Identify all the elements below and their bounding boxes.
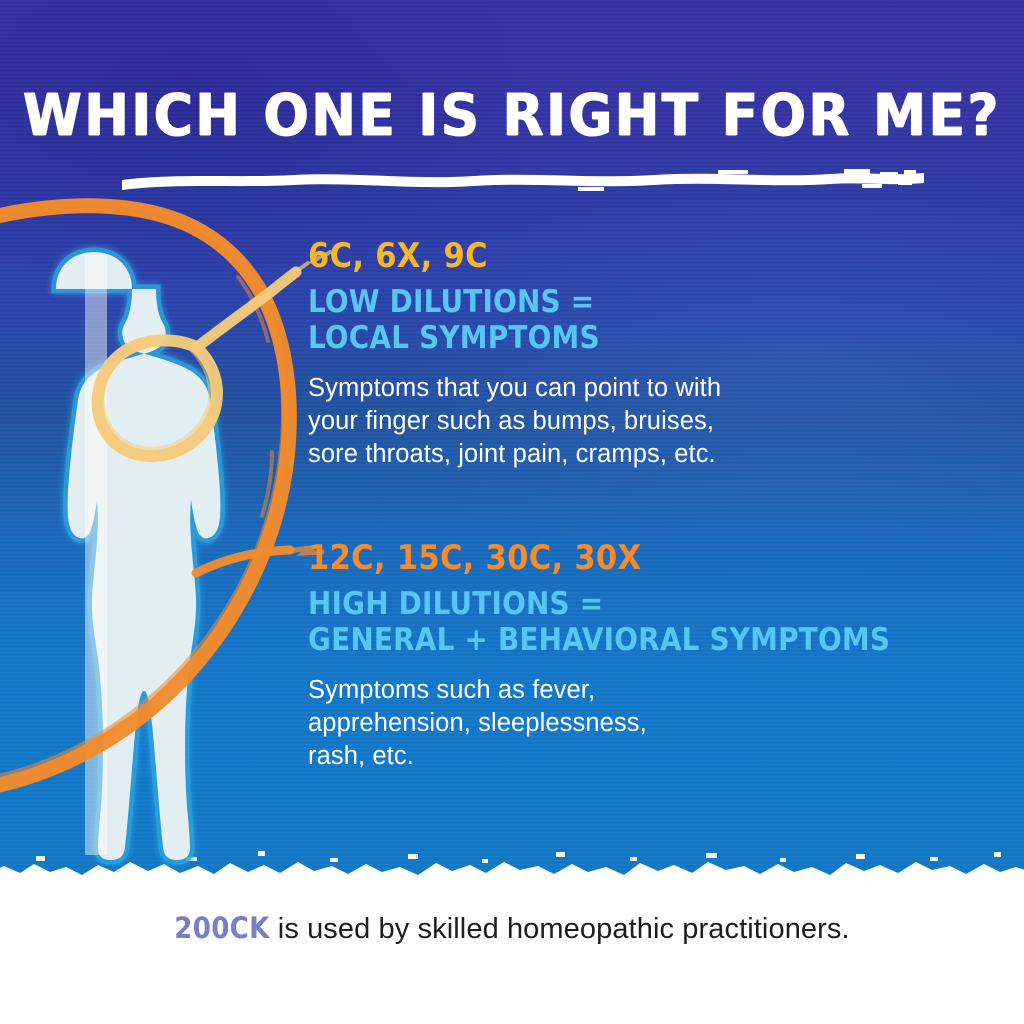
potency-block-high: 12C, 15C, 30C, 30X HIGH DILUTIONS = GENE… — [308, 538, 968, 773]
page-title: WHICH ONE IS RIGHT FOR ME? — [0, 82, 1024, 148]
footer-note: 200CK is used by skilled homeopathic pra… — [0, 906, 1024, 951]
subhead-low-line1: LOW DILUTIONS = — [308, 284, 594, 320]
subhead-low: LOW DILUTIONS = LOCAL SYMPTOMS — [308, 284, 968, 356]
footer-highlight-200ck: 200CK — [174, 911, 269, 945]
description-low-line1: Symptoms that you can point to with — [308, 372, 968, 405]
subhead-high: HIGH DILUTIONS = GENERAL + BEHAVIORAL SY… — [308, 586, 968, 658]
infographic-poster: WHICH ONE IS RIGHT FOR ME? 6C, 6X, 9C LO… — [0, 0, 1024, 1024]
potency-block-low: 6C, 6X, 9C LOW DILUTIONS = LOCAL SYMPTOM… — [308, 236, 968, 471]
description-high-line3: rash, etc. — [308, 740, 968, 773]
description-low-line2: your finger such as bumps, bruises, — [308, 405, 968, 438]
subhead-low-line2: LOCAL SYMPTOMS — [308, 320, 968, 356]
footer-rest-text: is used by skilled homeopathic practitio… — [270, 913, 850, 945]
subhead-high-line2: GENERAL + BEHAVIORAL SYMPTOMS — [308, 622, 968, 658]
subhead-high-line1: HIGH DILUTIONS = — [308, 586, 603, 622]
description-high-line2: apprehension, sleeplessness, — [308, 707, 968, 740]
description-low-line3: sore throats, joint pain, cramps, etc. — [308, 438, 968, 471]
description-high-line1: Symptoms such as fever, — [308, 674, 968, 707]
title-underline-brushstroke — [118, 166, 930, 192]
description-low: Symptoms that you can point to with your… — [308, 372, 968, 471]
potency-values-high: 12C, 15C, 30C, 30X — [308, 538, 968, 578]
description-high: Symptoms such as fever, apprehension, sl… — [308, 674, 968, 773]
potency-values-low: 6C, 6X, 9C — [308, 236, 968, 276]
